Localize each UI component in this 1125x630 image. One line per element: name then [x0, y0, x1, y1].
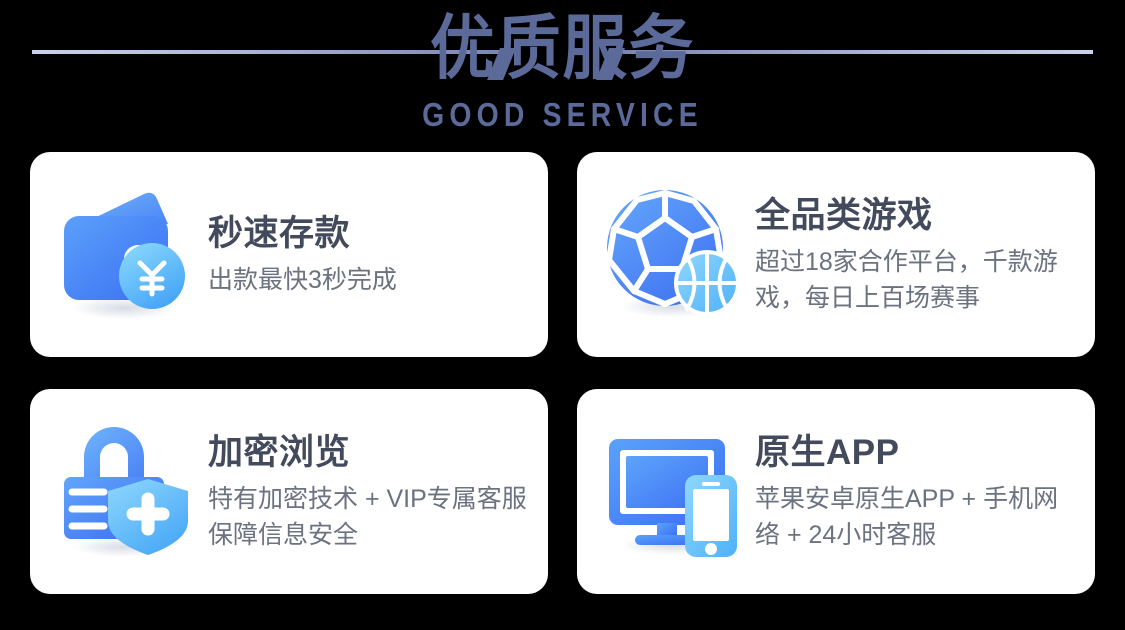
feature-card-title: 秒速存款: [208, 212, 530, 256]
feature-card-subtitle: 出款最快3秒完成: [208, 262, 530, 298]
soccer-basketball-icon: [599, 180, 749, 330]
feature-card-subtitle: 超过18家合作平台，千款游戏，每日上百场赛事: [755, 244, 1077, 316]
feature-card-title: 全品类游戏: [755, 194, 1077, 238]
feature-card-text: 原生APP 苹果安卓原生APP + 手机网络 + 24小时客服: [755, 431, 1095, 553]
page-header: 优质服务 GOOD SERVICE: [0, 0, 1125, 146]
feature-card-text: 加密浏览 特有加密技术 + VIP专属客服保障信息安全: [208, 431, 548, 553]
page-subtitle: GOOD SERVICE: [79, 96, 1047, 134]
feature-card-subtitle: 苹果安卓原生APP + 手机网络 + 24小时客服: [755, 481, 1077, 553]
feature-card-encrypted-browsing[interactable]: 加密浏览 特有加密技术 + VIP专属客服保障信息安全: [30, 389, 548, 594]
page-title: 优质服务: [45, 6, 1080, 90]
feature-card-grid: 秒速存款 出款最快3秒完成: [30, 152, 1095, 594]
feature-card-text: 秒速存款 出款最快3秒完成: [208, 212, 548, 298]
service-highlights-page: 优质服务 GOOD SERVICE: [0, 0, 1125, 630]
feature-card-title: 加密浏览: [208, 431, 530, 475]
feature-card-native-app[interactable]: 原生APP 苹果安卓原生APP + 手机网络 + 24小时客服: [577, 389, 1095, 594]
feature-card-instant-deposit[interactable]: 秒速存款 出款最快3秒完成: [30, 152, 548, 357]
lock-shield-icon: [52, 417, 202, 567]
feature-card-title: 原生APP: [755, 431, 1077, 475]
feature-card-text: 全品类游戏 超过18家合作平台，千款游戏，每日上百场赛事: [755, 194, 1095, 316]
feature-card-all-games[interactable]: 全品类游戏 超过18家合作平台，千款游戏，每日上百场赛事: [577, 152, 1095, 357]
feature-card-subtitle: 特有加密技术 + VIP专属客服保障信息安全: [208, 481, 530, 553]
monitor-phone-icon: [599, 417, 749, 567]
wallet-yen-icon: [52, 180, 202, 330]
